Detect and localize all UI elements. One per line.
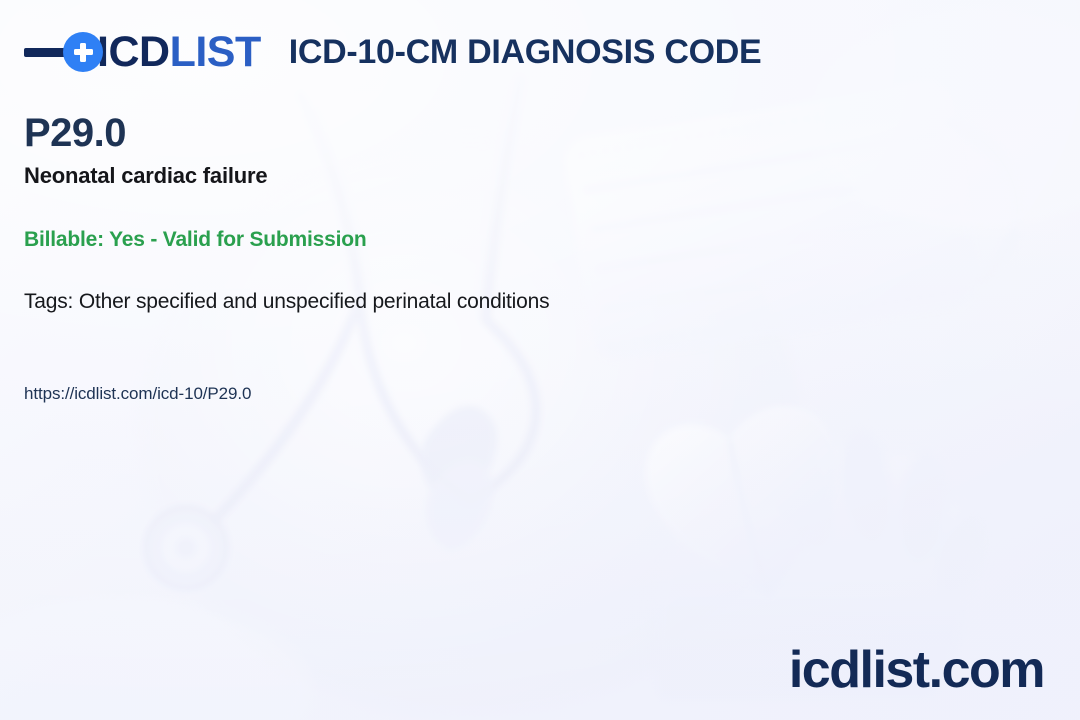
- icdlist-logo[interactable]: ICDLIST: [24, 24, 261, 80]
- logo-word-list: LIST: [170, 28, 261, 76]
- diagnosis-code: P29.0: [24, 110, 1024, 156]
- paper-heart-illustration: [637, 395, 863, 615]
- poster-canvas: ICDLIST ICD-10-CM DIAGNOSIS CODE P29.0 N…: [0, 0, 1080, 720]
- diagnosis-tags: Tags: Other specified and unspecified pe…: [24, 289, 1024, 314]
- stethoscope-eartips: [422, 406, 498, 550]
- logo-wordmark: ICDLIST: [97, 31, 261, 74]
- diagnosis-details: P29.0 Neonatal cardiac failure Billable:…: [24, 110, 1024, 404]
- source-url[interactable]: https://icdlist.com/icd-10/P29.0: [24, 384, 1024, 404]
- footer-brand: icdlist.com: [789, 644, 1044, 696]
- header: ICDLIST ICD-10-CM DIAGNOSIS CODE: [24, 24, 761, 80]
- logo-word-icd: ICD: [97, 28, 170, 76]
- page-title: ICD-10-CM DIAGNOSIS CODE: [289, 35, 762, 69]
- plus-circle-icon: [63, 32, 103, 72]
- billable-status: Billable: Yes - Valid for Submission: [24, 227, 1024, 252]
- diagnosis-description: Neonatal cardiac failure: [24, 163, 1024, 189]
